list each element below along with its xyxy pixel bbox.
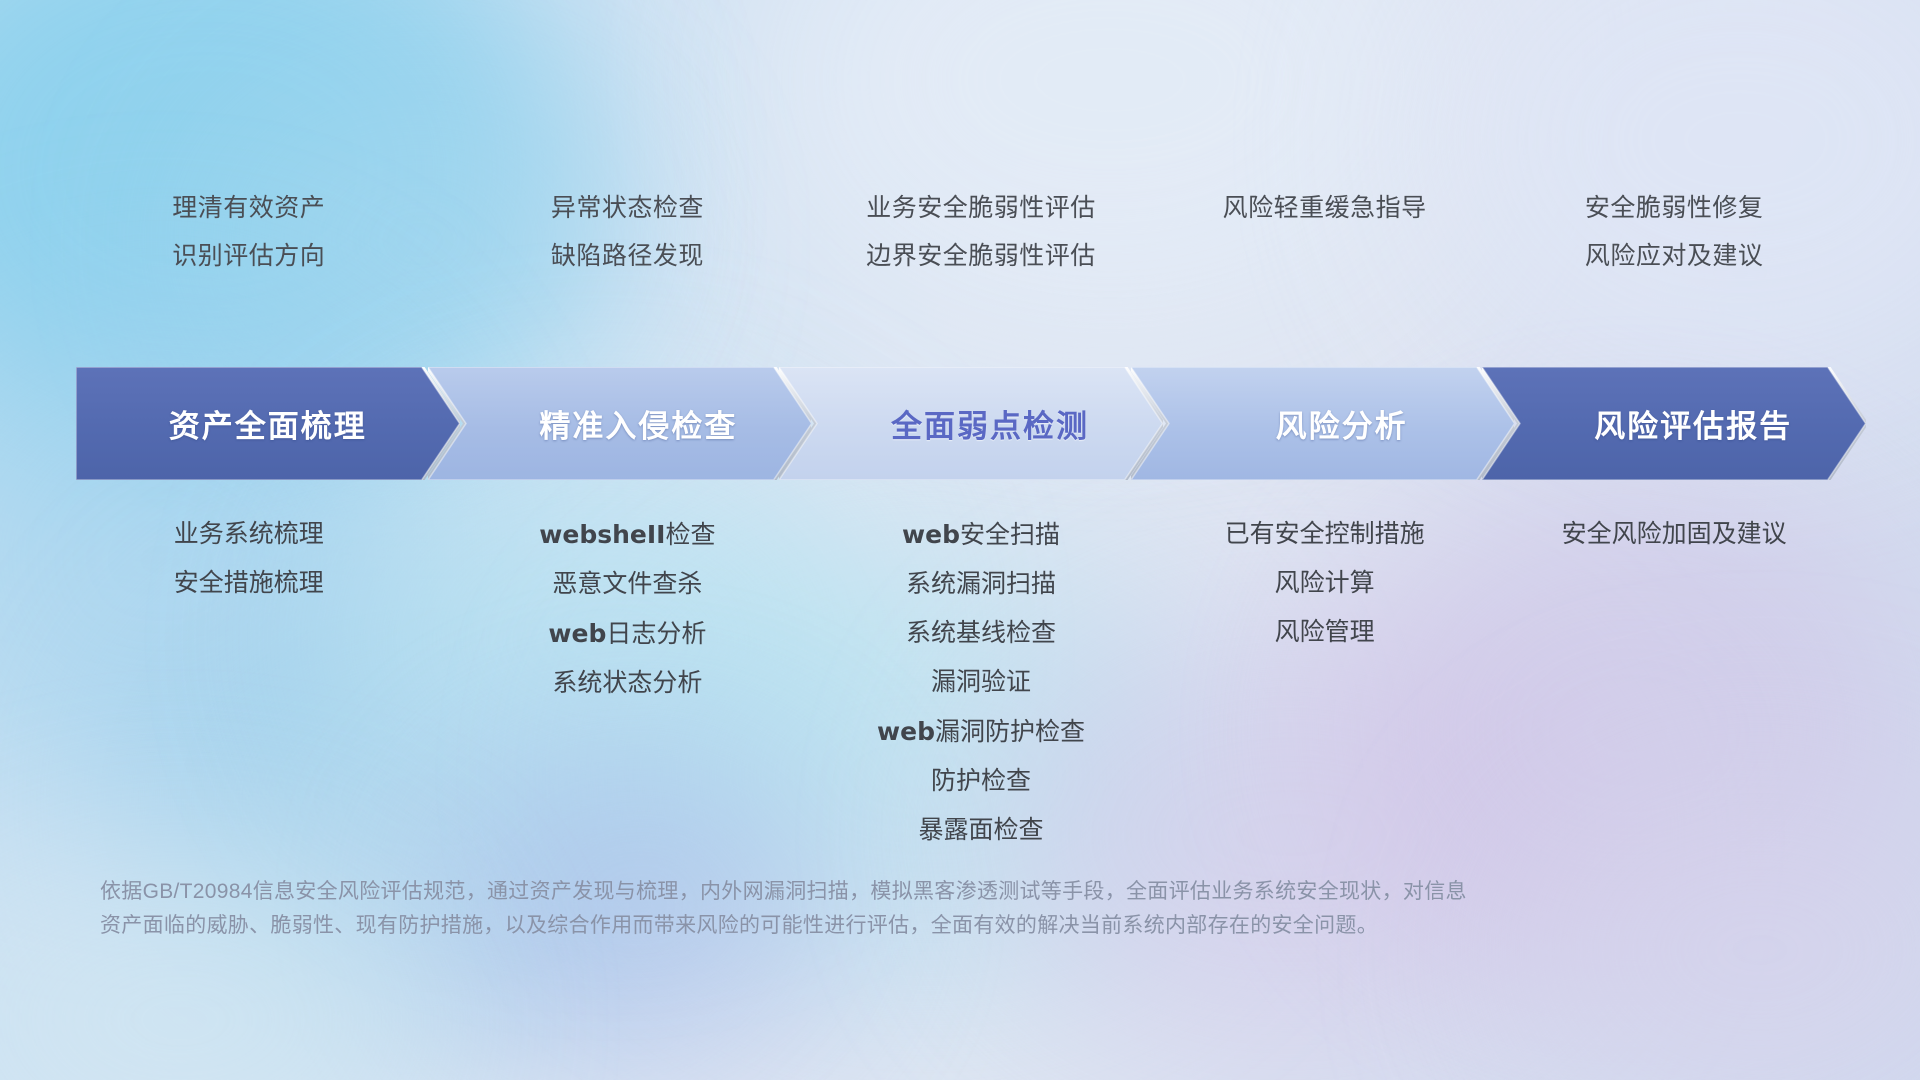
process-step-2[interactable]: 精准入侵检查 xyxy=(428,367,812,480)
chevron-shape-icon xyxy=(76,367,460,480)
process-step-4[interactable]: 风险分析 xyxy=(1131,367,1515,480)
process-step-1[interactable]: 资产全面梳理 xyxy=(76,367,460,480)
list-item: 风险管理 xyxy=(1025,608,1625,657)
list-item: 安全风险加固及建议 xyxy=(1374,510,1920,559)
step-5-top-note: 风险应对及建议 xyxy=(1374,232,1920,280)
list-item: 暴露面检查 xyxy=(681,806,1281,855)
chevron-shape-icon xyxy=(1131,367,1515,480)
process-step-3[interactable]: 全面弱点检测 xyxy=(779,367,1163,480)
chevron-shape-icon xyxy=(428,367,812,480)
list-item: 防护检查 xyxy=(681,757,1281,806)
list-item: 漏洞验证 xyxy=(681,658,1281,707)
step-5-top-note: 安全脆弱性修复 xyxy=(1374,184,1920,232)
step-5-top-notes: 安全脆弱性修复风险应对及建议 xyxy=(1374,184,1920,280)
process-arrow-band: 资产全面梳理精准入侵检查全面弱点检测风险分析风险评估报告 xyxy=(76,367,1866,480)
list-item: 风险计算 xyxy=(1025,559,1625,608)
footer-line-2: 资产面临的威胁、脆弱性、现有防护措施，以及综合作用而带来风险的可能性进行评估，全… xyxy=(100,909,1660,943)
footer-line-1: 依据GB/T20984信息安全风险评估规范，通过资产发现与梳理，内外网漏洞扫描，… xyxy=(100,875,1660,909)
top-descriptions-row: 理清有效资产识别评估方向异常状态检查缺陷路径发现业务安全脆弱性评估边界安全脆弱性… xyxy=(0,184,1920,294)
step-3-top-note: 边界安全脆弱性评估 xyxy=(681,232,1281,280)
step-5-items: 安全风险加固及建议 xyxy=(1374,510,1920,559)
chevron-shape-icon xyxy=(779,367,1163,480)
footer-description: 依据GB/T20984信息安全风险评估规范，通过资产发现与梳理，内外网漏洞扫描，… xyxy=(100,875,1660,943)
process-step-5[interactable]: 风险评估报告 xyxy=(1482,367,1866,480)
chevron-shape-icon xyxy=(1482,367,1866,480)
list-item: web漏洞防护检查 xyxy=(681,707,1281,757)
